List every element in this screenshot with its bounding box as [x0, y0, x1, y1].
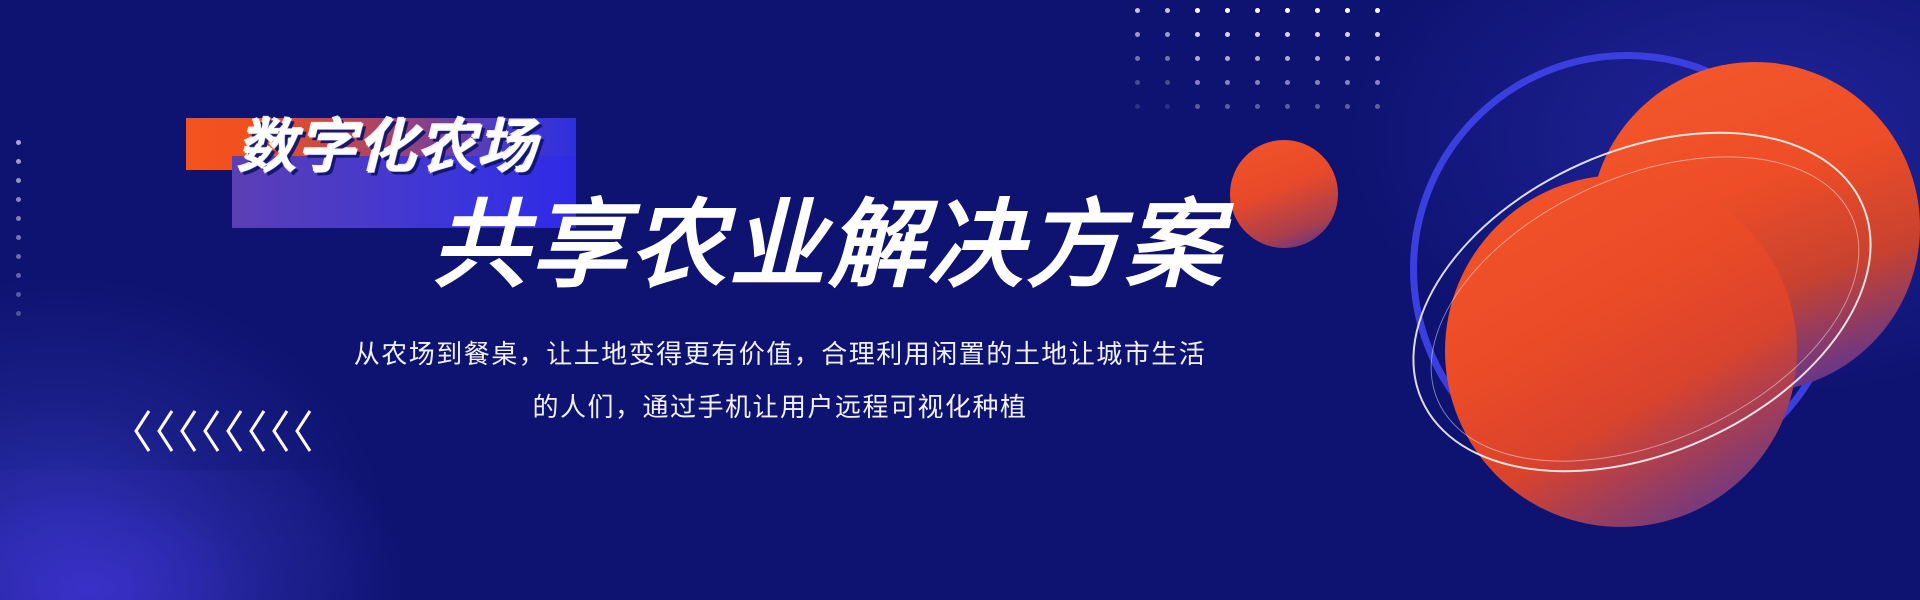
subtitle-line: 的人们，通过手机让用户远程可视化种植	[330, 381, 1230, 434]
grid-dot	[1285, 104, 1290, 109]
chevron-left-icon	[156, 409, 176, 453]
grid-dot	[1135, 104, 1140, 109]
gradient-circle-small-icon	[1230, 140, 1338, 248]
column-dot	[16, 197, 21, 202]
dot-grid-icon	[1135, 8, 1405, 116]
grid-dot	[1285, 80, 1290, 85]
chevron-left-icon	[202, 409, 222, 453]
grid-dot	[1345, 8, 1350, 13]
hero-banner: 数字化农场 共享农业解决方案 从农场到餐桌，让土地变得更有价值，合理利用闲置的土…	[0, 0, 1920, 600]
grid-dot	[1225, 80, 1230, 85]
dot-column-icon	[16, 140, 24, 320]
grid-dot	[1345, 56, 1350, 61]
grid-dot	[1375, 56, 1380, 61]
grid-dot	[1255, 80, 1260, 85]
column-dot	[16, 216, 21, 221]
grid-dot	[1165, 32, 1170, 37]
grid-dot	[1285, 56, 1290, 61]
grid-dot	[1375, 104, 1380, 109]
grid-dot	[1375, 8, 1380, 13]
grid-dot	[1135, 80, 1140, 85]
grid-dot	[1165, 80, 1170, 85]
grid-dot	[1315, 56, 1320, 61]
chevron-left-icon	[271, 409, 291, 453]
grid-dot	[1255, 104, 1260, 109]
grid-dot	[1225, 104, 1230, 109]
column-dot	[16, 235, 21, 240]
grid-dot	[1345, 32, 1350, 37]
grid-dot	[1315, 8, 1320, 13]
column-dot	[16, 311, 21, 316]
grid-dot	[1225, 8, 1230, 13]
grid-dot	[1195, 8, 1200, 13]
column-dot	[16, 254, 21, 259]
grid-dot	[1375, 80, 1380, 85]
grid-dot	[1315, 80, 1320, 85]
badge-gradient-bar	[186, 118, 576, 170]
badge-label: 数字化农场	[238, 119, 598, 177]
page-title: 共享农业解决方案	[432, 196, 1152, 297]
grid-dot	[1315, 32, 1320, 37]
grid-dot	[1255, 8, 1260, 13]
column-dot	[16, 140, 21, 145]
grid-dot	[1345, 104, 1350, 109]
chevron-left-icon	[225, 409, 245, 453]
subtitle: 从农场到餐桌，让土地变得更有价值，合理利用闲置的土地让城市生活的人们，通过手机让…	[330, 328, 1230, 434]
grid-dot	[1285, 32, 1290, 37]
chevron-left-icon	[248, 409, 268, 453]
chevron-left-icon	[133, 409, 153, 453]
grid-dot	[1375, 32, 1380, 37]
chevron-left-icon	[179, 409, 199, 453]
grid-dot	[1165, 8, 1170, 13]
grid-dot	[1225, 32, 1230, 37]
grid-dot	[1345, 80, 1350, 85]
grid-dot	[1285, 8, 1290, 13]
grid-dot	[1135, 8, 1140, 13]
grid-dot	[1255, 56, 1260, 61]
grid-dot	[1195, 104, 1200, 109]
chevron-left-icon	[294, 409, 314, 453]
grid-dot	[1165, 104, 1170, 109]
grid-dot	[1165, 56, 1170, 61]
column-dot	[16, 292, 21, 297]
background-glow-bottom-left-2	[0, 470, 400, 600]
grid-dot	[1195, 32, 1200, 37]
subtitle-line: 从农场到餐桌，让土地变得更有价值，合理利用闲置的土地让城市生活	[330, 328, 1230, 381]
grid-dot	[1255, 32, 1260, 37]
column-dot	[16, 159, 21, 164]
grid-dot	[1195, 80, 1200, 85]
column-dot	[16, 273, 21, 278]
grid-dot	[1135, 56, 1140, 61]
grid-dot	[1135, 32, 1140, 37]
grid-dot	[1315, 104, 1320, 109]
double-chevron-left-icon	[133, 409, 314, 453]
grid-dot	[1195, 56, 1200, 61]
grid-dot	[1225, 56, 1230, 61]
column-dot	[16, 178, 21, 183]
